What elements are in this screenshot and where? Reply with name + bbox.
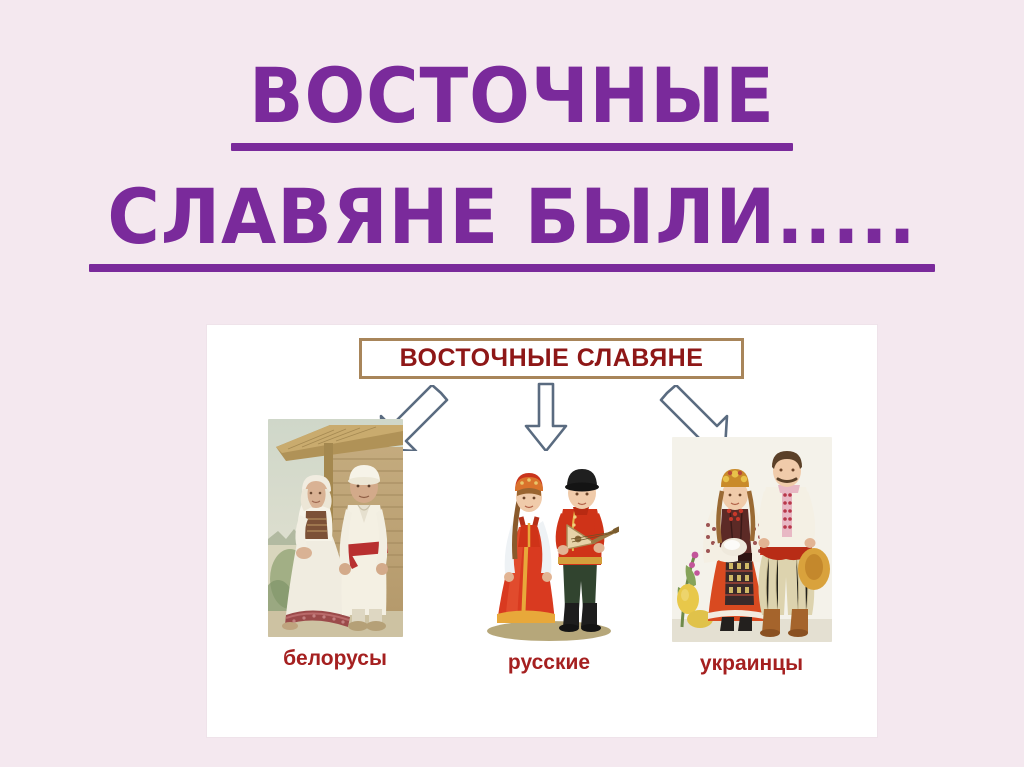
branch-label-russians: русские (469, 651, 629, 675)
page-title: ВОСТОЧНЫЕ СЛАВЯНЕ БЫЛИ..... (0, 58, 1024, 272)
diagram-header-label: ВОСТОЧНЫЕ СЛАВЯНЕ (400, 344, 704, 373)
branch-label-ukrainians: украинцы (659, 652, 844, 676)
diagram-card: ВОСТОЧНЫЕ СЛАВЯНЕ (207, 325, 877, 737)
branch-belarusians: белорусы (245, 419, 425, 671)
diagram-branches: белорусы (207, 413, 877, 737)
title-line-1: ВОСТОЧНЫЕ (31, 58, 994, 134)
branch-label-belarusians: белорусы (245, 647, 425, 671)
title-line-2: СЛАВЯНЕ БЫЛИ..... (31, 179, 994, 255)
branch-ukrainians: украинцы (659, 437, 844, 676)
branch-russians: русские (469, 451, 629, 675)
russian-illustration (479, 451, 619, 641)
diagram-header-box: ВОСТОЧНЫЕ СЛАВЯНЕ (359, 338, 744, 379)
belarusian-illustration (268, 419, 403, 637)
title-underline-2 (89, 264, 935, 272)
ukrainian-illustration (672, 437, 832, 642)
title-underline-1 (231, 143, 793, 151)
